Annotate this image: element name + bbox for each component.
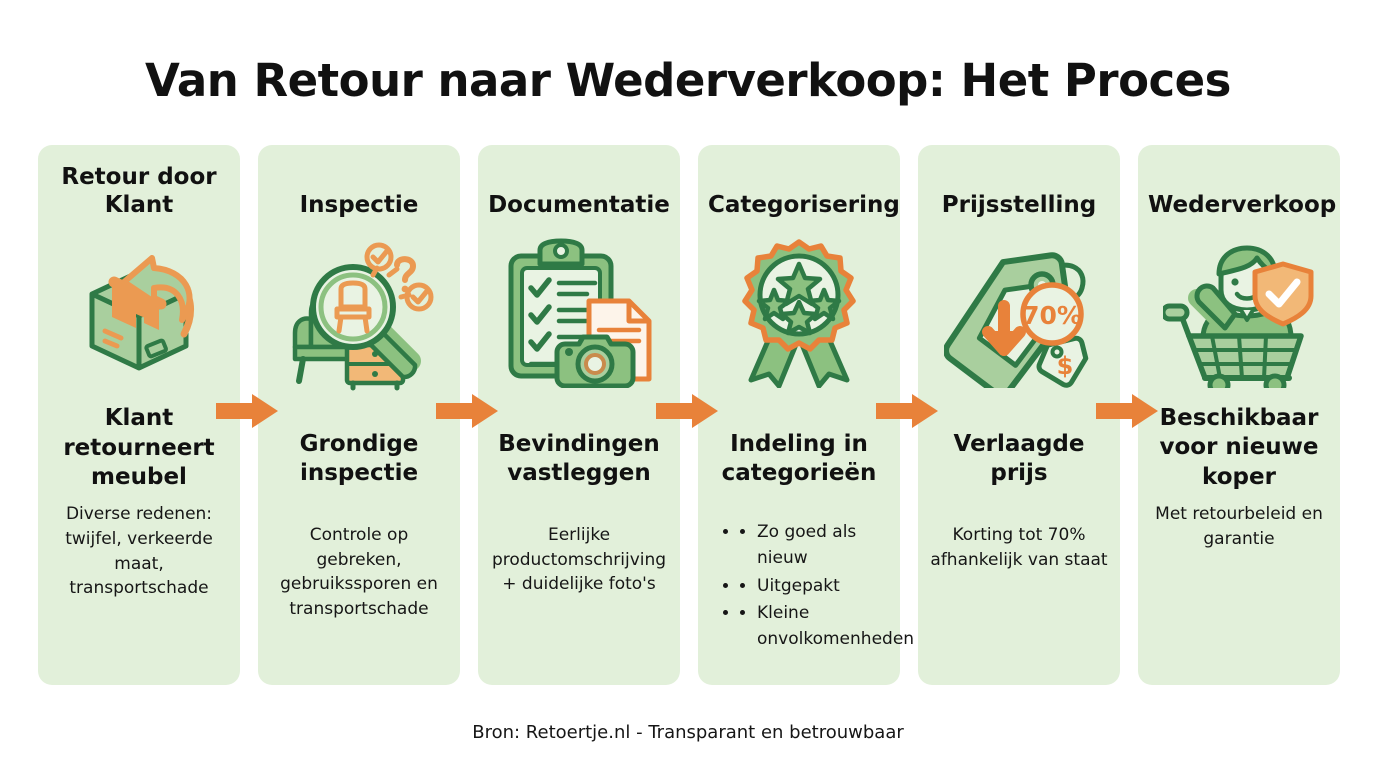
step-subtitle: Klant retourneert meubel: [46, 404, 232, 492]
step-description: Controle op gebreken, gebruikssporen en …: [266, 523, 452, 622]
step-subtitle: Indeling in categorieën: [706, 430, 892, 489]
magnifier-furniture-inspection-icon: [266, 225, 452, 400]
arrow-right-icon-1: [216, 394, 278, 428]
step-card-inspectie[interactable]: Inspectie: [258, 145, 460, 685]
clipboard-camera-document-icon: [486, 225, 672, 400]
discount-badge-value: 70%: [1022, 301, 1082, 330]
page-title: Van Retour naar Wederverkoop: Het Proces: [0, 54, 1376, 107]
step-description: Korting tot 70% afhankelijk van staat: [926, 523, 1112, 572]
infographic-page: Van Retour naar Wederverkoop: Het Proces…: [0, 0, 1376, 768]
step-subtitle: Bevindingen vastleggen: [486, 430, 672, 489]
source-footer: Bron: Retoertje.nl - Transparant en betr…: [0, 722, 1376, 743]
return-box-icon: [46, 225, 232, 400]
step-bullet-list: Zo goed als nieuw Uitgepakt Kleine onvol…: [706, 519, 892, 654]
list-item: Zo goed als nieuw: [740, 519, 888, 572]
step-description: Diverse redenen: twijfel, verkeerde maat…: [46, 502, 232, 601]
step-title: Wederverkoop: [1146, 191, 1332, 219]
step-card-retour-door-klant[interactable]: Retour door Klant: [38, 145, 240, 685]
arrow-right-icon-2: [436, 394, 498, 428]
step-subtitle: Beschikbaar voor nieuwe koper: [1146, 404, 1332, 492]
svg-text:$: $: [1057, 352, 1074, 380]
rosette-stars-badge-icon: [706, 225, 892, 400]
arrow-right-icon-5: [1096, 394, 1158, 428]
arrow-right-icon-4: [876, 394, 938, 428]
discount-price-tag-icon: $ 70%: [926, 225, 1112, 400]
arrow-right-icon-3: [656, 394, 718, 428]
step-description: Eerlijke productomschrijving + duidelijk…: [486, 523, 672, 597]
shopping-cart-buyer-shield-icon: [1146, 225, 1332, 400]
step-subtitle: Verlaagde prijs: [926, 430, 1112, 489]
list-item: Kleine onvolkomenheden: [740, 600, 888, 653]
list-item: Uitgepakt: [740, 573, 888, 599]
step-subtitle: Grondige inspectie: [266, 430, 452, 489]
step-title: Inspectie: [266, 191, 452, 219]
step-card-categorisering[interactable]: Categorisering Indeling in categorieën: [698, 145, 900, 685]
step-title: Documentatie: [486, 191, 672, 219]
step-card-wederverkoop[interactable]: Wederverkoop: [1138, 145, 1340, 685]
step-title: Retour door Klant: [46, 163, 232, 219]
step-card-prijsstelling[interactable]: Prijsstelling: [918, 145, 1120, 685]
step-card-documentatie[interactable]: Documentatie: [478, 145, 680, 685]
step-description: Met retourbeleid en garantie: [1146, 502, 1332, 551]
step-title: Prijsstelling: [926, 191, 1112, 219]
step-title: Categorisering: [706, 191, 892, 219]
